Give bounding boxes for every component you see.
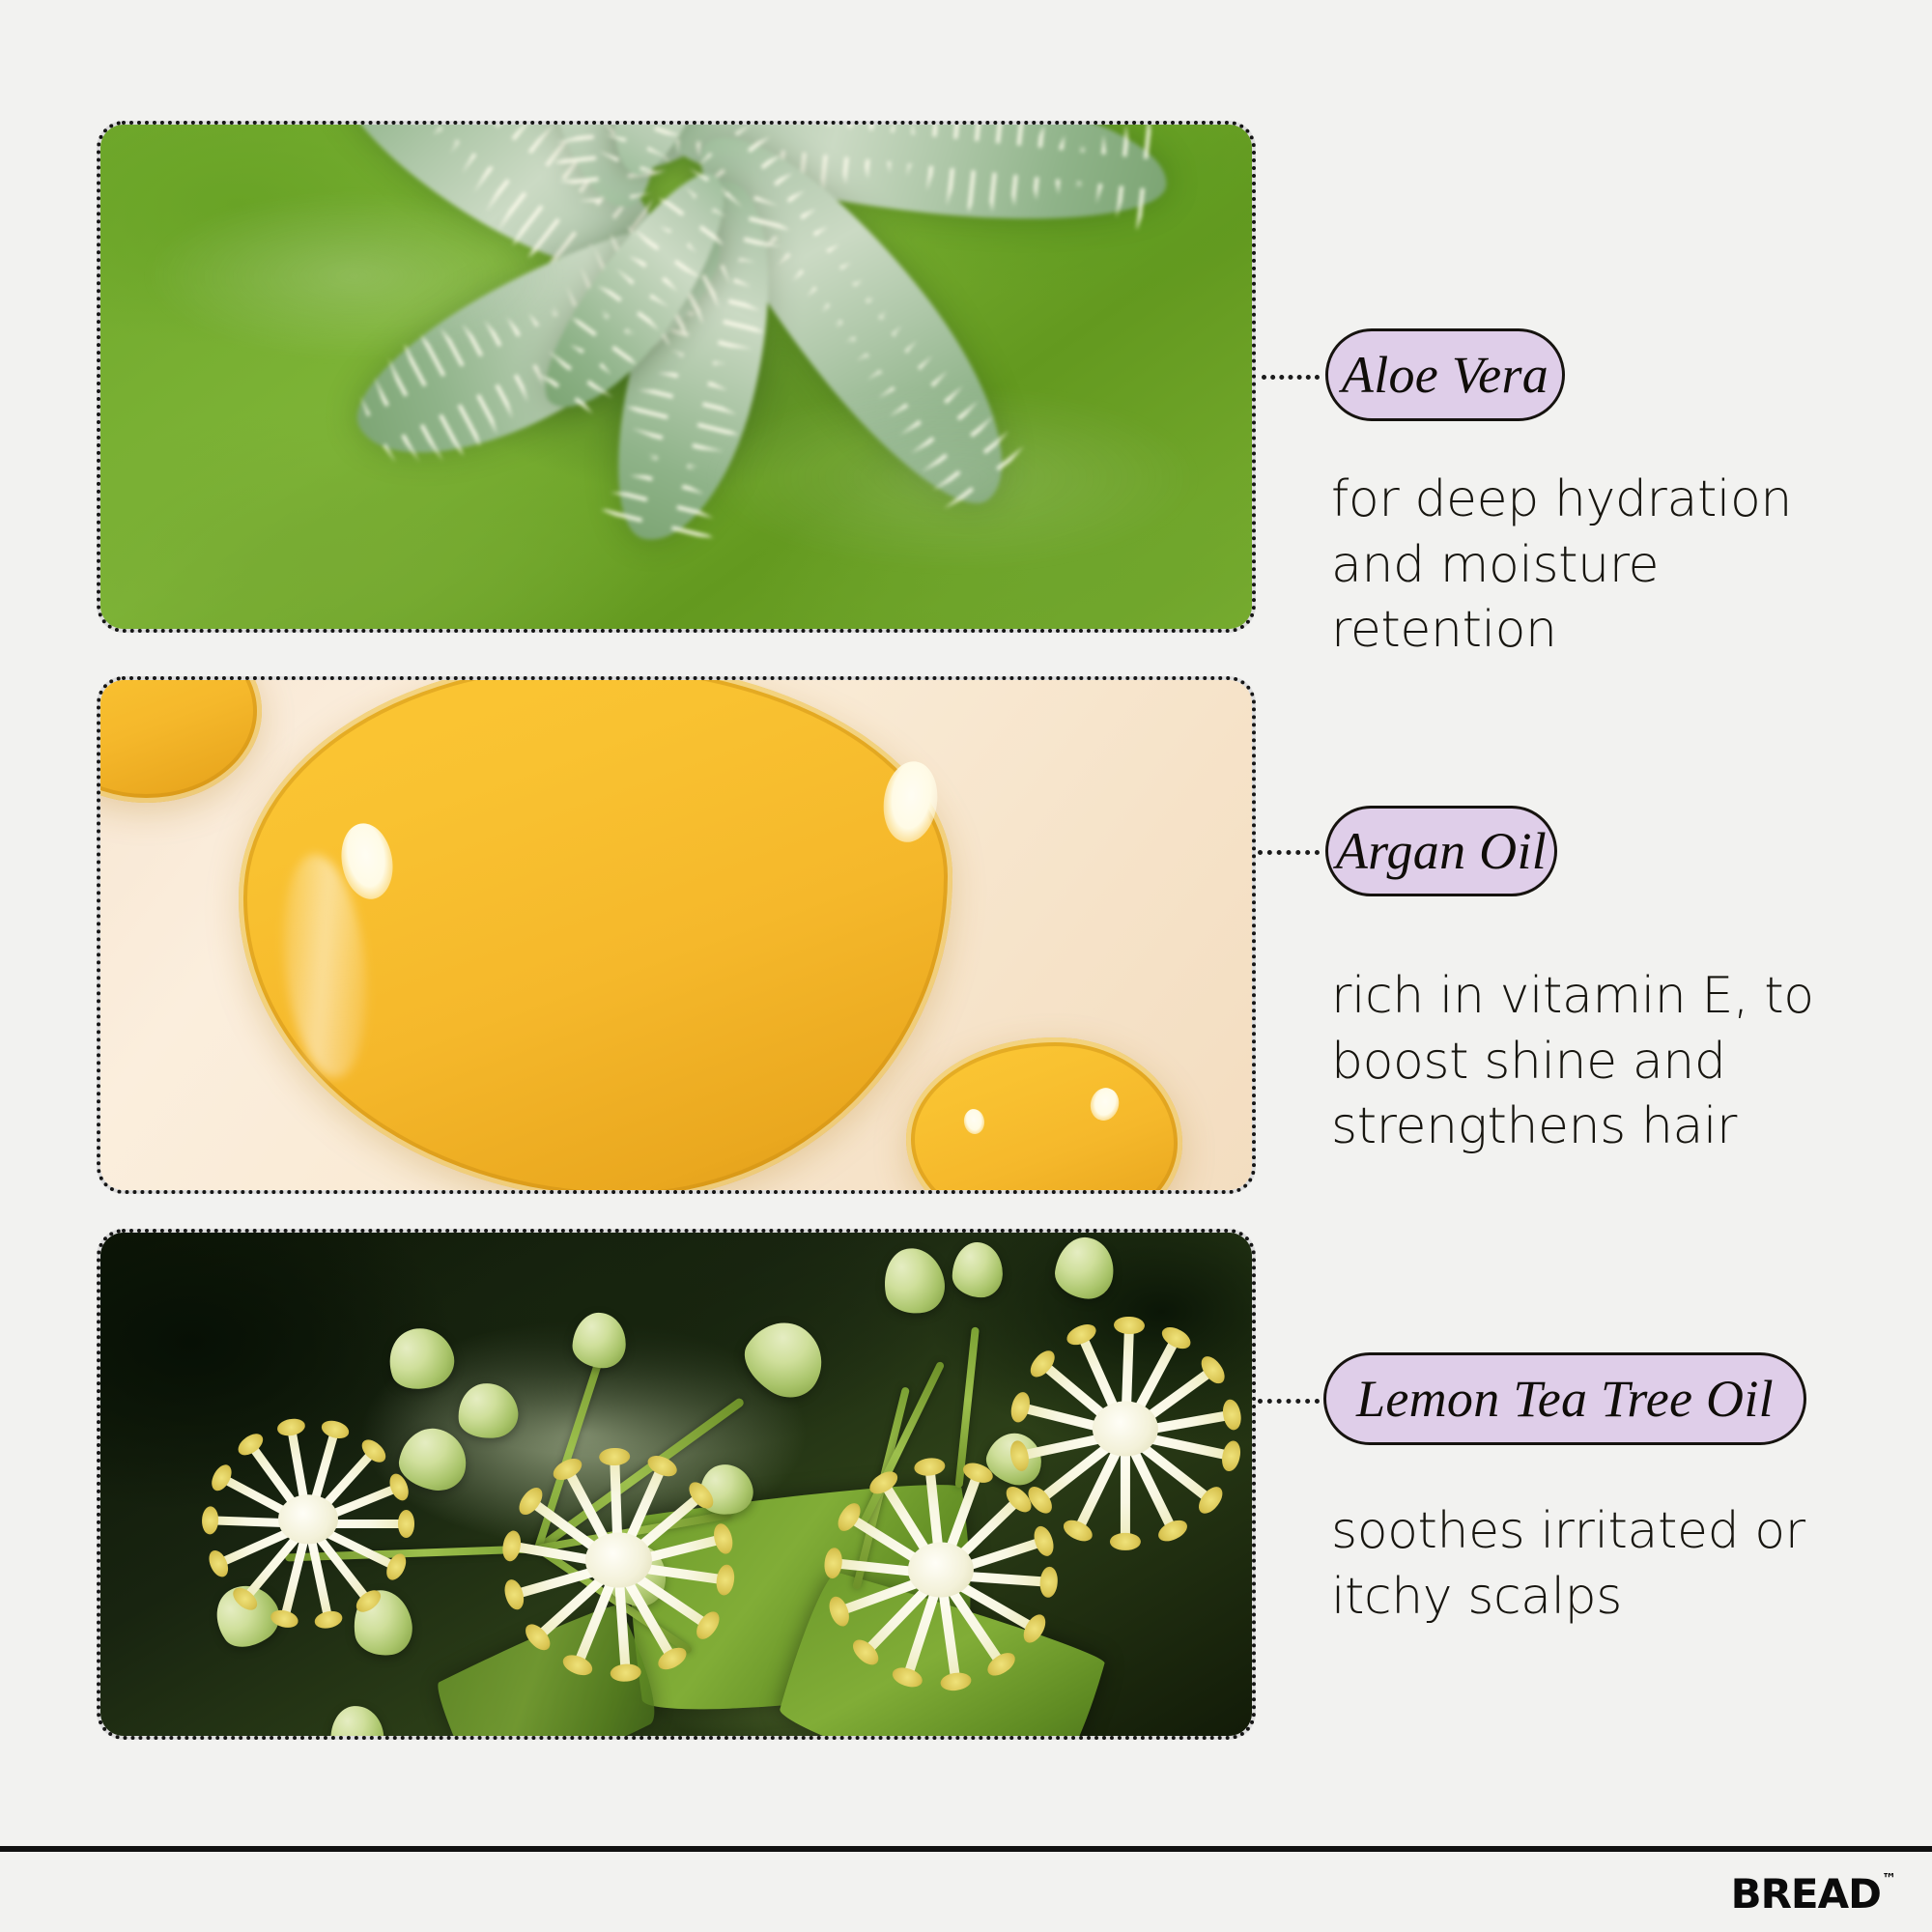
argan-oil-image — [100, 680, 1252, 1190]
description-line: retention — [1331, 598, 1843, 664]
connector-line-aloe-vera — [1262, 375, 1320, 380]
brand-logo: BREAD ™ — [1731, 1870, 1895, 1918]
flower — [192, 1424, 422, 1615]
ingredient-label-argan-oil: Argan Oil — [1325, 806, 1557, 896]
description-line: and moisture — [1331, 533, 1843, 599]
ingredient-description-aloe-vera: for deep hydration and moisture retentio… — [1331, 468, 1843, 664]
ingredient-card-argan-oil — [97, 676, 1256, 1194]
ingredient-description-lemon-tea-tree-oil: soothes irritated or itchy scalps — [1331, 1499, 1872, 1630]
ingredient-description-argan-oil: rich in vitamin E, to boost shine and st… — [1331, 964, 1853, 1160]
ingredient-label-text: Aloe Vera — [1342, 345, 1548, 405]
brand-name: BREAD — [1731, 1870, 1881, 1918]
ingredient-label-lemon-tea-tree-oil: Lemon Tea Tree Oil — [1323, 1352, 1806, 1445]
ingredient-label-aloe-vera: Aloe Vera — [1325, 328, 1565, 421]
ingredient-label-text: Argan Oil — [1336, 821, 1547, 881]
ingredient-card-aloe-vera — [97, 121, 1256, 633]
description-line: rich in vitamin E, to — [1331, 964, 1853, 1030]
lemon-tea-tree-image — [100, 1233, 1252, 1736]
footer-divider — [0, 1846, 1932, 1852]
connector-line-lemon-tea-tree-oil — [1258, 1399, 1320, 1404]
infographic-canvas: Aloe Vera for deep hydration and moistur… — [0, 0, 1932, 1932]
description-line: soothes irritated or — [1331, 1499, 1872, 1565]
flower — [999, 1323, 1252, 1535]
flower — [492, 1454, 745, 1665]
connector-line-argan-oil — [1258, 850, 1320, 855]
aloe-vera-image — [100, 125, 1252, 629]
trademark-symbol: ™ — [1882, 1872, 1895, 1887]
ingredient-label-text: Lemon Tea Tree Oil — [1356, 1369, 1774, 1429]
aloe-highlight-mist — [100, 125, 1252, 629]
ingredient-card-lemon-tea-tree-oil — [97, 1229, 1256, 1740]
description-line: boost shine and — [1331, 1030, 1853, 1095]
description-line: strengthens hair — [1331, 1094, 1853, 1160]
description-line: for deep hydration — [1331, 468, 1843, 533]
description-line: itchy scalps — [1331, 1565, 1872, 1631]
